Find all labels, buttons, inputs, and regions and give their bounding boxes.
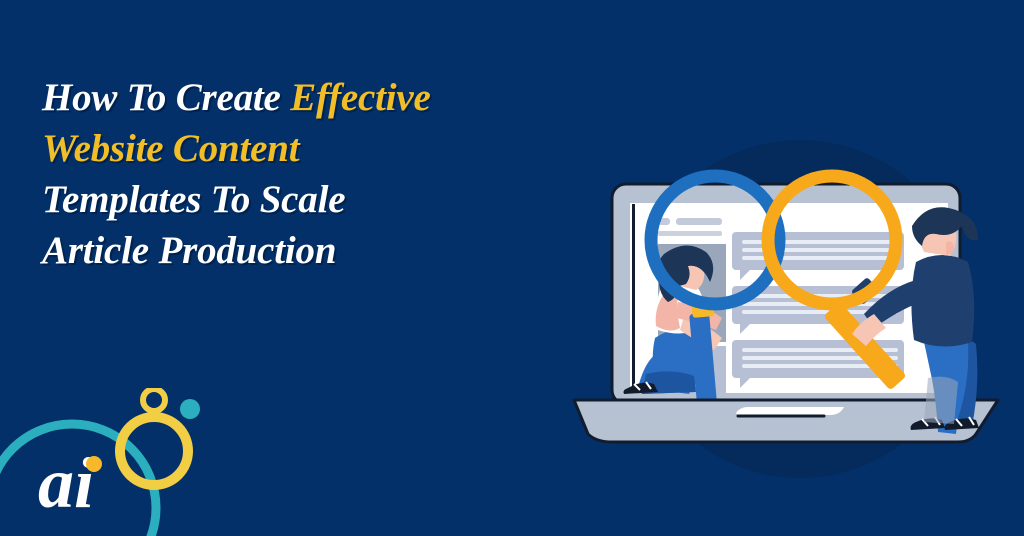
content-research-illustration (560, 130, 1024, 470)
page-title-line-2: Website Content (42, 123, 582, 174)
page-title-segment-1-2: Effective (290, 76, 430, 119)
page-title-segment-1-1: How To Create (42, 76, 290, 119)
page-title: How To Create EffectiveWebsite ContentTe… (42, 72, 582, 276)
page-title-line-1: How To Create Effective (42, 72, 582, 123)
logo-wordmark: ai (38, 443, 94, 523)
page-title-line-3: Templates To Scale (42, 174, 582, 225)
content-line (658, 231, 722, 236)
content-line (676, 218, 722, 225)
page-title-segment-3-1: Templates To Scale (42, 178, 345, 221)
page-title-line-4: Article Production (42, 225, 582, 276)
hero-banner: How To Create EffectiveWebsite ContentTe… (0, 0, 1024, 536)
logo-letter-dot-icon (86, 456, 102, 472)
logo-small-yellow-ring-icon (143, 389, 165, 411)
page-title-segment-4-1: Article Production (42, 229, 336, 272)
page-title-segment-2-1: Website Content (42, 127, 299, 170)
logo-teal-dot-icon (180, 399, 200, 419)
laptop-trackpad (736, 407, 844, 415)
brand-logo[interactable]: ai (0, 388, 200, 536)
